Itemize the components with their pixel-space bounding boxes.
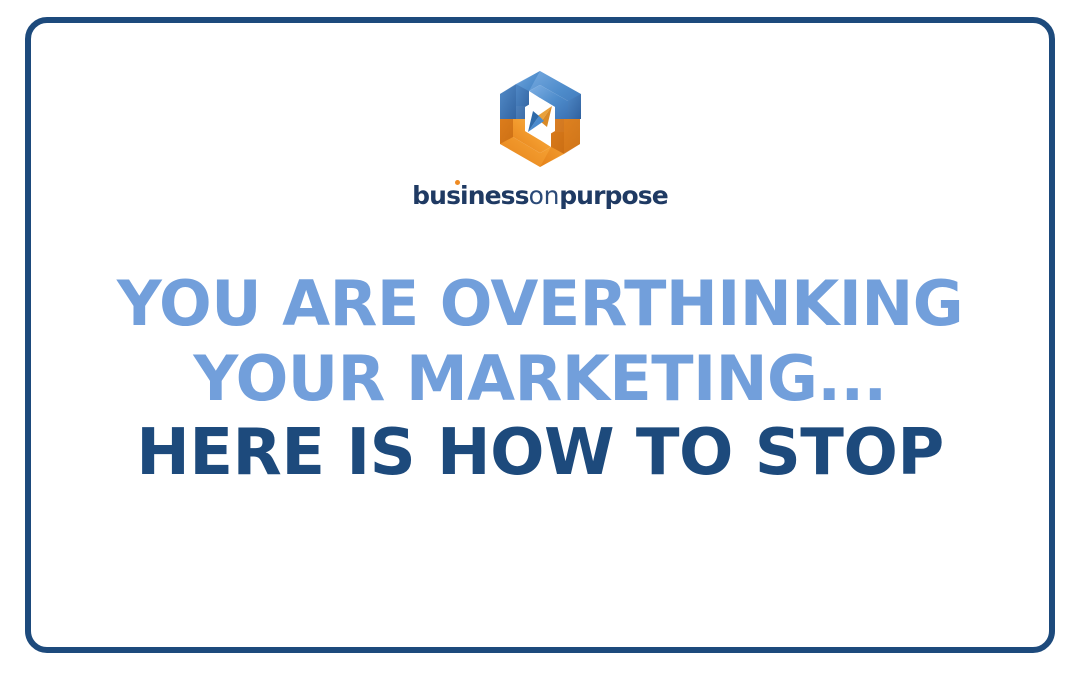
- slide-canvas: business on purpose YOU ARE OVERTHINKING…: [0, 0, 1080, 675]
- headline-block: YOU ARE OVERTHINKING YOUR MARKETING... H…: [25, 266, 1055, 491]
- slide-content: business on purpose YOU ARE OVERTHINKING…: [25, 17, 1055, 653]
- headline-line-2: YOUR MARKETING...: [25, 341, 1055, 416]
- hexagon-compass-logo-icon: [489, 67, 591, 171]
- wordmark-purpose: purpose: [559, 183, 668, 208]
- headline-line-1: YOU ARE OVERTHINKING: [25, 266, 1055, 341]
- wordmark-on: on: [529, 183, 560, 208]
- brand-logo: business on purpose: [425, 67, 655, 208]
- wordmark-business: business: [412, 183, 528, 208]
- brand-wordmark: business on purpose: [412, 183, 668, 208]
- headline-line-3: HERE IS HOW TO STOP: [25, 416, 1055, 491]
